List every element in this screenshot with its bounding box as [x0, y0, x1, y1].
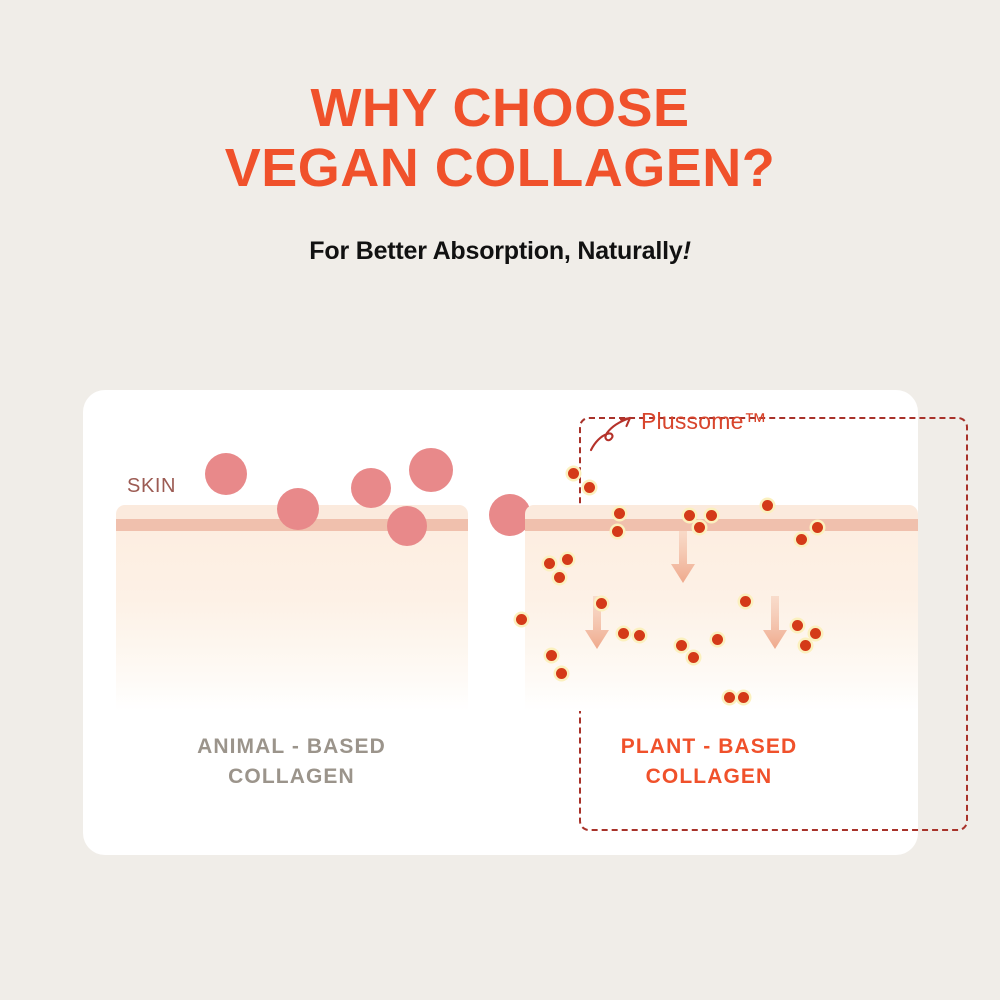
- absorption-arrow-icon: [670, 530, 696, 584]
- comparison-card: SKIN ANIMAL - BASED COLLAGEN Plussome™ P…: [83, 390, 918, 855]
- plant-collagen-particle: [712, 634, 723, 645]
- skin-label: SKIN: [127, 475, 176, 498]
- animal-panel-caption: ANIMAL - BASED COLLAGEN: [83, 732, 500, 793]
- plant-collagen-particle: [516, 614, 527, 625]
- plant-caption-line-2: COLLAGEN: [500, 762, 918, 792]
- plant-collagen-particle: [618, 628, 629, 639]
- plant-caption-line-1: PLANT - BASED: [500, 732, 918, 762]
- plant-collagen-particle: [810, 628, 821, 639]
- plant-collagen-particle: [800, 640, 811, 651]
- animal-collagen-molecule: [277, 488, 319, 530]
- page-subtitle: For Better Absorption, Naturally!: [0, 199, 1000, 266]
- animal-collagen-molecule: [387, 506, 427, 546]
- plant-collagen-particle: [596, 598, 607, 609]
- animal-caption-line-2: COLLAGEN: [83, 762, 500, 792]
- dermis-layer: [116, 531, 468, 711]
- plant-collagen-particle: [792, 620, 803, 631]
- plant-collagen-particle: [796, 534, 807, 545]
- header: WHY CHOOSE VEGAN COLLAGEN? For Better Ab…: [0, 0, 1000, 266]
- plant-collagen-particle: [584, 482, 595, 493]
- subtitle-text: For Better Absorption, Naturally: [309, 237, 682, 265]
- plant-collagen-particle: [724, 692, 735, 703]
- plant-collagen-particle: [568, 468, 579, 479]
- plant-collagen-particle: [544, 558, 555, 569]
- headline-line-1: WHY CHOOSE: [0, 78, 1000, 138]
- plant-collagen-panel: Plussome™ PLANT - BASED COLLAGEN: [500, 390, 918, 855]
- plant-collagen-particle: [706, 510, 717, 521]
- absorption-arrow-icon: [762, 596, 788, 650]
- epidermis-layer: [525, 519, 918, 531]
- plant-collagen-particle: [612, 526, 623, 537]
- plant-collagen-particle: [562, 554, 573, 565]
- plant-collagen-particle: [634, 630, 645, 641]
- page-title: WHY CHOOSE VEGAN COLLAGEN?: [0, 0, 1000, 199]
- plant-collagen-particle: [688, 652, 699, 663]
- plant-collagen-particle: [812, 522, 823, 533]
- plant-collagen-particle: [694, 522, 705, 533]
- plussome-brand-label: Plussome™: [641, 408, 767, 435]
- plant-collagen-particle: [554, 572, 565, 583]
- plant-collagen-particle: [676, 640, 687, 651]
- plant-panel-caption: PLANT - BASED COLLAGEN: [500, 732, 918, 793]
- animal-caption-line-1: ANIMAL - BASED: [83, 732, 500, 762]
- plant-collagen-particle: [546, 650, 557, 661]
- animal-collagen-panel: SKIN ANIMAL - BASED COLLAGEN: [83, 390, 500, 855]
- plant-collagen-particle: [738, 692, 749, 703]
- animal-collagen-molecule: [409, 448, 453, 492]
- plant-collagen-particle: [762, 500, 773, 511]
- subtitle-exclamation: !: [683, 237, 691, 265]
- plant-collagen-particle: [614, 508, 625, 519]
- headline-line-2: VEGAN COLLAGEN?: [0, 138, 1000, 198]
- animal-collagen-molecule: [351, 468, 391, 508]
- plant-collagen-particle: [684, 510, 695, 521]
- plant-collagen-particle: [740, 596, 751, 607]
- plant-collagen-particle: [556, 668, 567, 679]
- animal-collagen-molecule: [205, 453, 247, 495]
- plussome-pointer-arrow: [585, 408, 645, 454]
